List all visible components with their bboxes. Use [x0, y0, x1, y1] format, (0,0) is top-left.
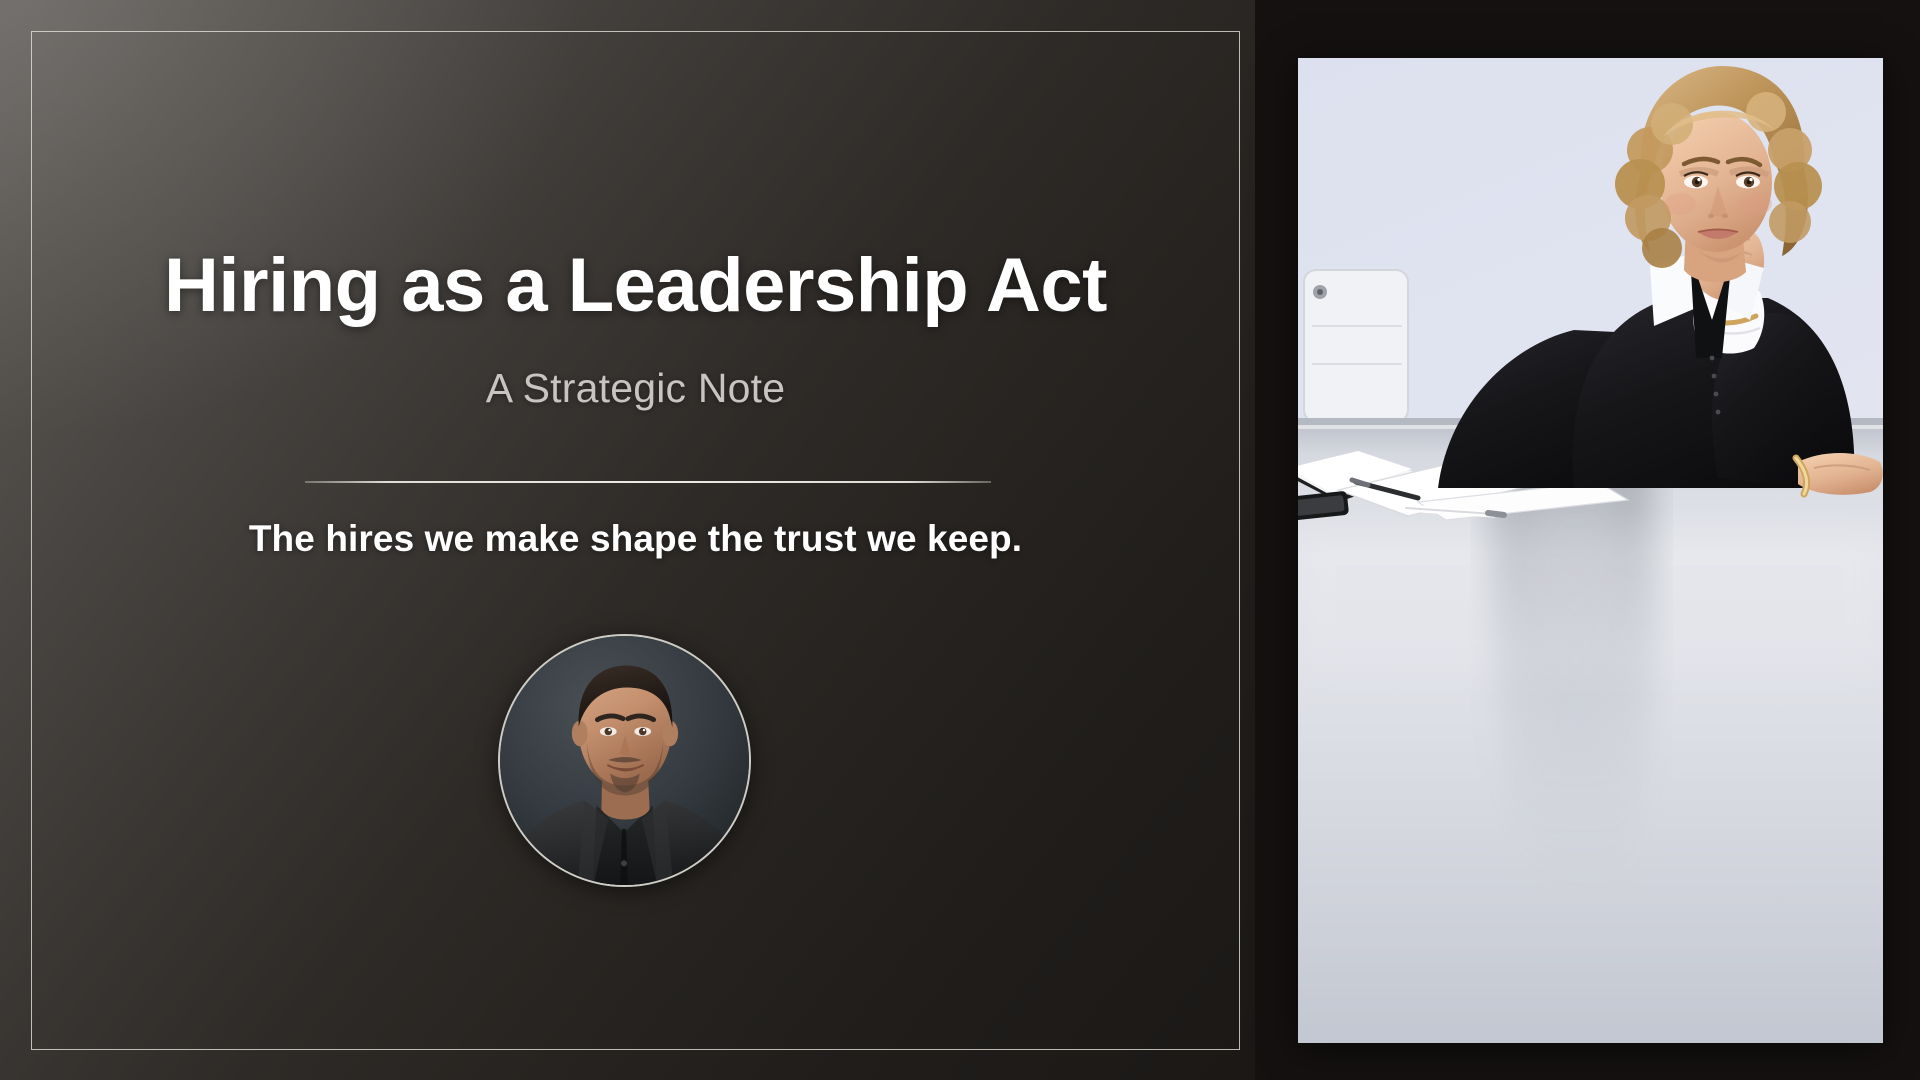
- avatar-photo: [500, 636, 749, 885]
- avatar: [498, 634, 751, 887]
- businesswoman-photo: [1298, 58, 1883, 1043]
- presentation-slide: Hiring as a Leadership Act A Strategic N…: [0, 0, 1920, 1080]
- slide-tagline: The hires we make shape the trust we kee…: [31, 518, 1240, 560]
- page-title: Hiring as a Leadership Act: [31, 246, 1240, 326]
- slide-subtitle: A Strategic Note: [31, 365, 1240, 412]
- title-panel: Hiring as a Leadership Act A Strategic N…: [0, 0, 1255, 1080]
- hero-photo: [1298, 58, 1883, 1043]
- title-divider: [305, 481, 991, 483]
